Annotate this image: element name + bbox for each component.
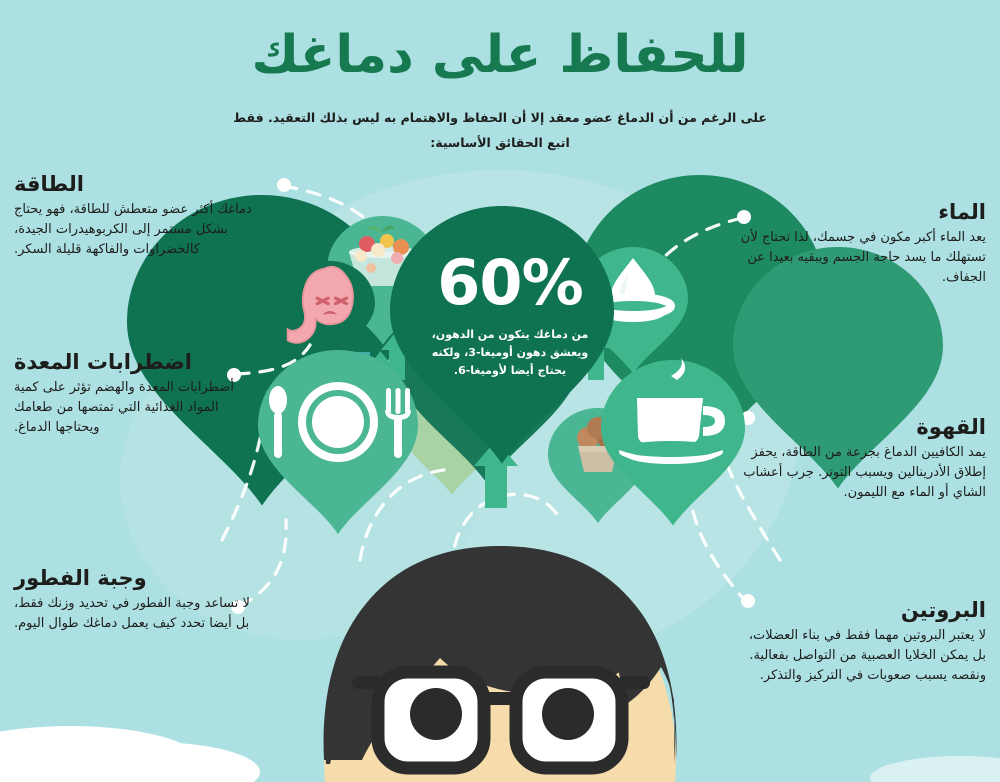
- fact-energy-title: الطاقة: [14, 172, 260, 196]
- page-title: للحفاظ على دماغك: [0, 0, 1000, 83]
- fact-protein-body: لا يعتبر البروتين مهما فقط في بناء العضل…: [740, 626, 986, 686]
- fact-breakfast-body: لا تساعد وجبة الفطور في تحديد وزنك فقط، …: [14, 594, 260, 634]
- pin-center-60: [390, 206, 614, 464]
- fact-energy[interactable]: الطاقة دماغك أكثر عضو متعطش للطاقة، فهو …: [14, 172, 260, 261]
- fact-coffee[interactable]: القهوة يمد الكافيين الدماغ بجرعة من الطا…: [740, 415, 986, 504]
- subtitle-line-2: اتبع الحقائق الأساسية:: [220, 130, 780, 155]
- fact-protein-title: البروتين: [740, 598, 986, 622]
- page-subtitle: على الرغم من أن الدماغ عضو معقد إلا أن ا…: [220, 83, 780, 155]
- infographic-canvas: للحفاظ على دماغك على الرغم من أن الدماغ …: [0, 0, 1000, 782]
- fact-coffee-title: القهوة: [740, 415, 986, 439]
- fact-stomach[interactable]: اضطرابات المعدة أضطرابات المعدة والهضم ت…: [14, 350, 260, 439]
- fact-water-body: يعد الماء أكبر مكون في جسمك، لذا تحتاج ل…: [740, 228, 986, 288]
- fact-stomach-title: اضطرابات المعدة: [14, 350, 260, 374]
- header: للحفاظ على دماغك على الرغم من أن الدماغ …: [0, 0, 1000, 155]
- fact-stomach-body: أضطرابات المعدة والهضم تؤثر على كمية الم…: [14, 378, 260, 438]
- fact-coffee-body: يمد الكافيين الدماغ بجرعة من الطاقة، يحف…: [740, 443, 986, 503]
- fact-energy-body: دماغك أكثر عضو متعطش للطاقة، فهو يحتاج ب…: [14, 200, 260, 260]
- fact-water-title: الماء: [740, 200, 986, 224]
- fact-water[interactable]: الماء يعد الماء أكبر مكون في جسمك، لذا ت…: [740, 200, 986, 289]
- fact-protein[interactable]: البروتين لا يعتبر البروتين مهما فقط في ب…: [740, 598, 986, 687]
- fact-breakfast-title: وجبة الفطور: [14, 566, 260, 590]
- fact-breakfast[interactable]: وجبة الفطور لا تساعد وجبة الفطور في تحدي…: [14, 566, 260, 634]
- subtitle-line-1: على الرغم من أن الدماغ عضو معقد إلا أن ا…: [220, 105, 780, 130]
